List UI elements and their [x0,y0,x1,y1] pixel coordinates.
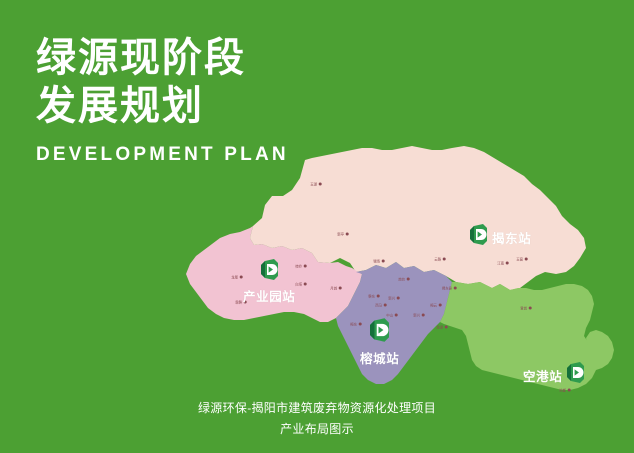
heading-block: 绿源现阶段 发展规划 DEVELOPMENT PLAN [36,34,289,166]
city-dot [439,304,442,307]
city-dot-label: 地都 [559,387,566,392]
city-dot-label: 梅东 [350,321,357,326]
city-dot [529,307,532,310]
station-marker-jiedong[interactable]: 揭东站 [470,224,531,250]
city-dot [382,260,385,263]
city-dot [422,314,425,317]
page-subtitle: DEVELOPMENT PLAN [36,144,289,166]
station-label-jiedong: 揭东站 [492,228,531,247]
city-dot-label: 磐东 [368,293,375,298]
city-dot-label: 玉湖 [310,181,317,186]
city-dot-label: 霖磐 [235,299,242,304]
city-dot-label: 新亭 [337,231,344,236]
city-dot-label: 中山 [386,312,393,317]
city-dot-label: 云路 [434,256,441,261]
green-cube-logo-icon [567,362,584,388]
green-cube-logo-icon [261,259,278,285]
city-dot [377,295,380,298]
station-label-konggang: 空港站 [523,366,562,385]
city-dot-label: 登岗 [520,305,527,310]
city-dot [525,258,528,261]
city-dot-label: 新兴 [388,295,395,300]
city-dot-label: 炮台 [398,276,405,281]
city-dot-label: 揭东县 [442,285,453,290]
caption-line-1: 绿源环保-揭阳市建筑废弃物资源化处理项目 [0,398,634,419]
city-dot [384,304,387,307]
caption-line-2: 产业布局图示 [0,419,634,440]
city-dot-label: 玉窖 [516,256,523,261]
station-marker-rongcheng[interactable]: 榕城站 [360,318,399,367]
city-dot-label: 月城 [330,285,337,290]
city-dot [346,233,349,236]
page-title-line-1: 绿源现阶段 [36,34,289,82]
station-label-rongcheng: 榕城站 [360,348,399,367]
city-dot-label: 锡场 [373,258,380,263]
green-cube-logo-icon [370,318,389,347]
city-dot-label: 江南 [497,260,504,265]
city-dot [506,262,509,265]
city-dot-label: 梅云 [430,302,437,307]
city-dot [395,314,398,317]
city-dot [304,283,307,286]
city-dot-label: 新兴 [413,312,420,317]
city-dot [339,287,342,290]
page-title-line-2: 发展规划 [36,82,289,130]
poster-root: 玉湖新亭锡场桂岭白塔云路玉窖江南龙尾霖磐月城炮台磐东新兴西马中山新兴梅云渔湖梅东… [0,0,634,453]
city-dot-label: 渔湖 [436,324,443,329]
city-dot [454,287,457,290]
city-dot [407,278,410,281]
city-dot [304,265,307,268]
station-label-chanyeyuan: 产业园站 [243,286,295,305]
caption-block: 绿源环保-揭阳市建筑废弃物资源化处理项目 产业布局图示 [0,398,634,440]
green-cube-logo-icon [470,224,487,250]
city-dot [443,258,446,261]
city-dot-label: 桂岭 [295,263,302,268]
city-dot [445,326,448,329]
city-dot [319,183,322,186]
city-dot-label: 西马 [375,302,382,307]
station-marker-konggang[interactable]: 空港站 [523,362,584,388]
city-dot-label: 龙尾 [231,274,238,279]
city-dot-label: 白塔 [295,281,302,286]
city-dot [397,297,400,300]
station-marker-chanyeyuan[interactable]: 产业园站 [243,259,295,305]
city-dot [568,389,571,392]
